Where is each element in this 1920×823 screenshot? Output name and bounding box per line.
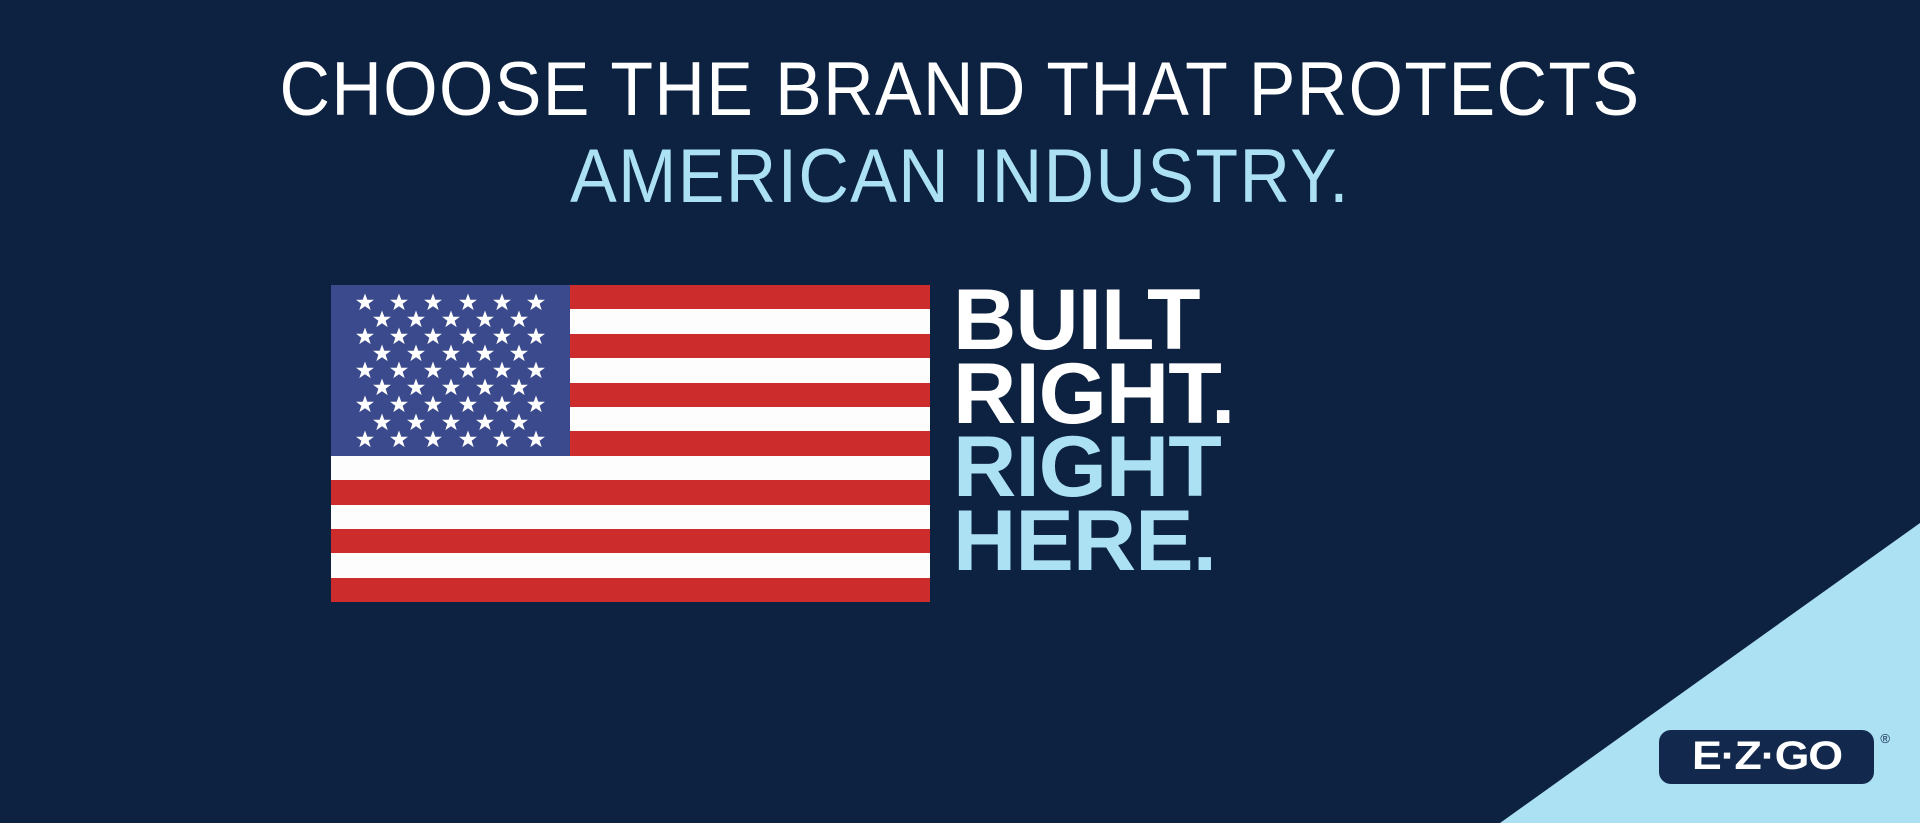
flag-star-icon bbox=[424, 429, 443, 448]
flag-stripe-white bbox=[331, 456, 930, 480]
flag-star-icon bbox=[526, 293, 545, 312]
ezgo-logo[interactable]: E·Z·GO ® bbox=[1659, 730, 1890, 784]
flag-star-field bbox=[331, 285, 570, 456]
flag-star-icon bbox=[458, 429, 477, 448]
headline-line-2: AMERICAN INDUSTRY. bbox=[77, 141, 1843, 214]
flag-star-icon bbox=[526, 327, 545, 346]
flag-star-icon bbox=[356, 429, 375, 448]
registered-trademark-icon: ® bbox=[1880, 732, 1890, 745]
slogan-block: BUILTRIGHT.RIGHTHERE. bbox=[953, 284, 1229, 578]
flag-stripe-red bbox=[331, 480, 930, 504]
headline: CHOOSE THE BRAND THAT PROTECTS AMERICAN … bbox=[0, 54, 1920, 214]
slogan-line-4: HERE. bbox=[953, 505, 1234, 579]
logo-wordmark: E·Z·GO bbox=[1691, 736, 1841, 778]
flag-canton bbox=[331, 285, 570, 456]
flag-star-icon bbox=[526, 395, 545, 414]
banner-root: CHOOSE THE BRAND THAT PROTECTS AMERICAN … bbox=[0, 0, 1920, 823]
flag-star-icon bbox=[526, 361, 545, 380]
flag-stripe-white bbox=[331, 505, 930, 529]
flag-star-icon bbox=[390, 429, 409, 448]
logo-inner: E·Z·GO bbox=[1659, 730, 1874, 784]
flag-stripe-white bbox=[331, 553, 930, 577]
united-states-flag bbox=[331, 285, 930, 602]
flag-star-icon bbox=[492, 429, 511, 448]
headline-line-1: CHOOSE THE BRAND THAT PROTECTS bbox=[77, 54, 1843, 127]
flag-star-icon bbox=[526, 429, 545, 448]
flag-stripe-red bbox=[331, 529, 930, 553]
flag-stripe-red bbox=[331, 578, 930, 602]
